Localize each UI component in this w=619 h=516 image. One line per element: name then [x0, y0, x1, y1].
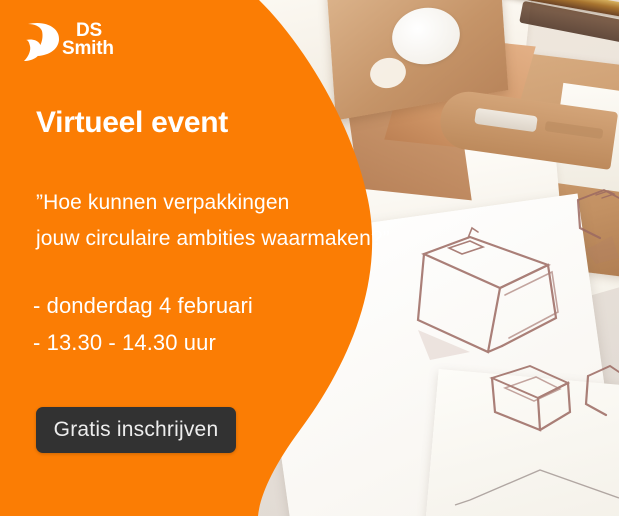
event-time: - 13.30 - 14.30 uur	[33, 325, 253, 362]
event-quote-line-1: ”Hoe kunnen verpakkingen	[36, 185, 390, 221]
brand-line-smith: Smith	[62, 40, 114, 59]
page-title: Virtueel event	[36, 106, 228, 140]
event-quote-line-2: jouw circulaire ambities waarmaken?”	[36, 221, 390, 257]
event-quote: ”Hoe kunnen verpakkingen jouw circulaire…	[36, 185, 390, 257]
brand-wordmark: DS Smith	[58, 22, 114, 58]
register-button[interactable]: Gratis inschrijven	[36, 407, 236, 453]
ds-smith-leaf-icon	[22, 18, 62, 64]
brand-logo: DS Smith	[22, 18, 132, 70]
event-details: - donderdag 4 februari - 13.30 - 14.30 u…	[33, 288, 253, 362]
virtual-event-banner: DS Smith Virtueel event ”Hoe kunnen verp…	[0, 0, 619, 516]
event-date: - donderdag 4 februari	[33, 288, 253, 325]
banner-content: DS Smith Virtueel event ”Hoe kunnen verp…	[0, 0, 619, 516]
